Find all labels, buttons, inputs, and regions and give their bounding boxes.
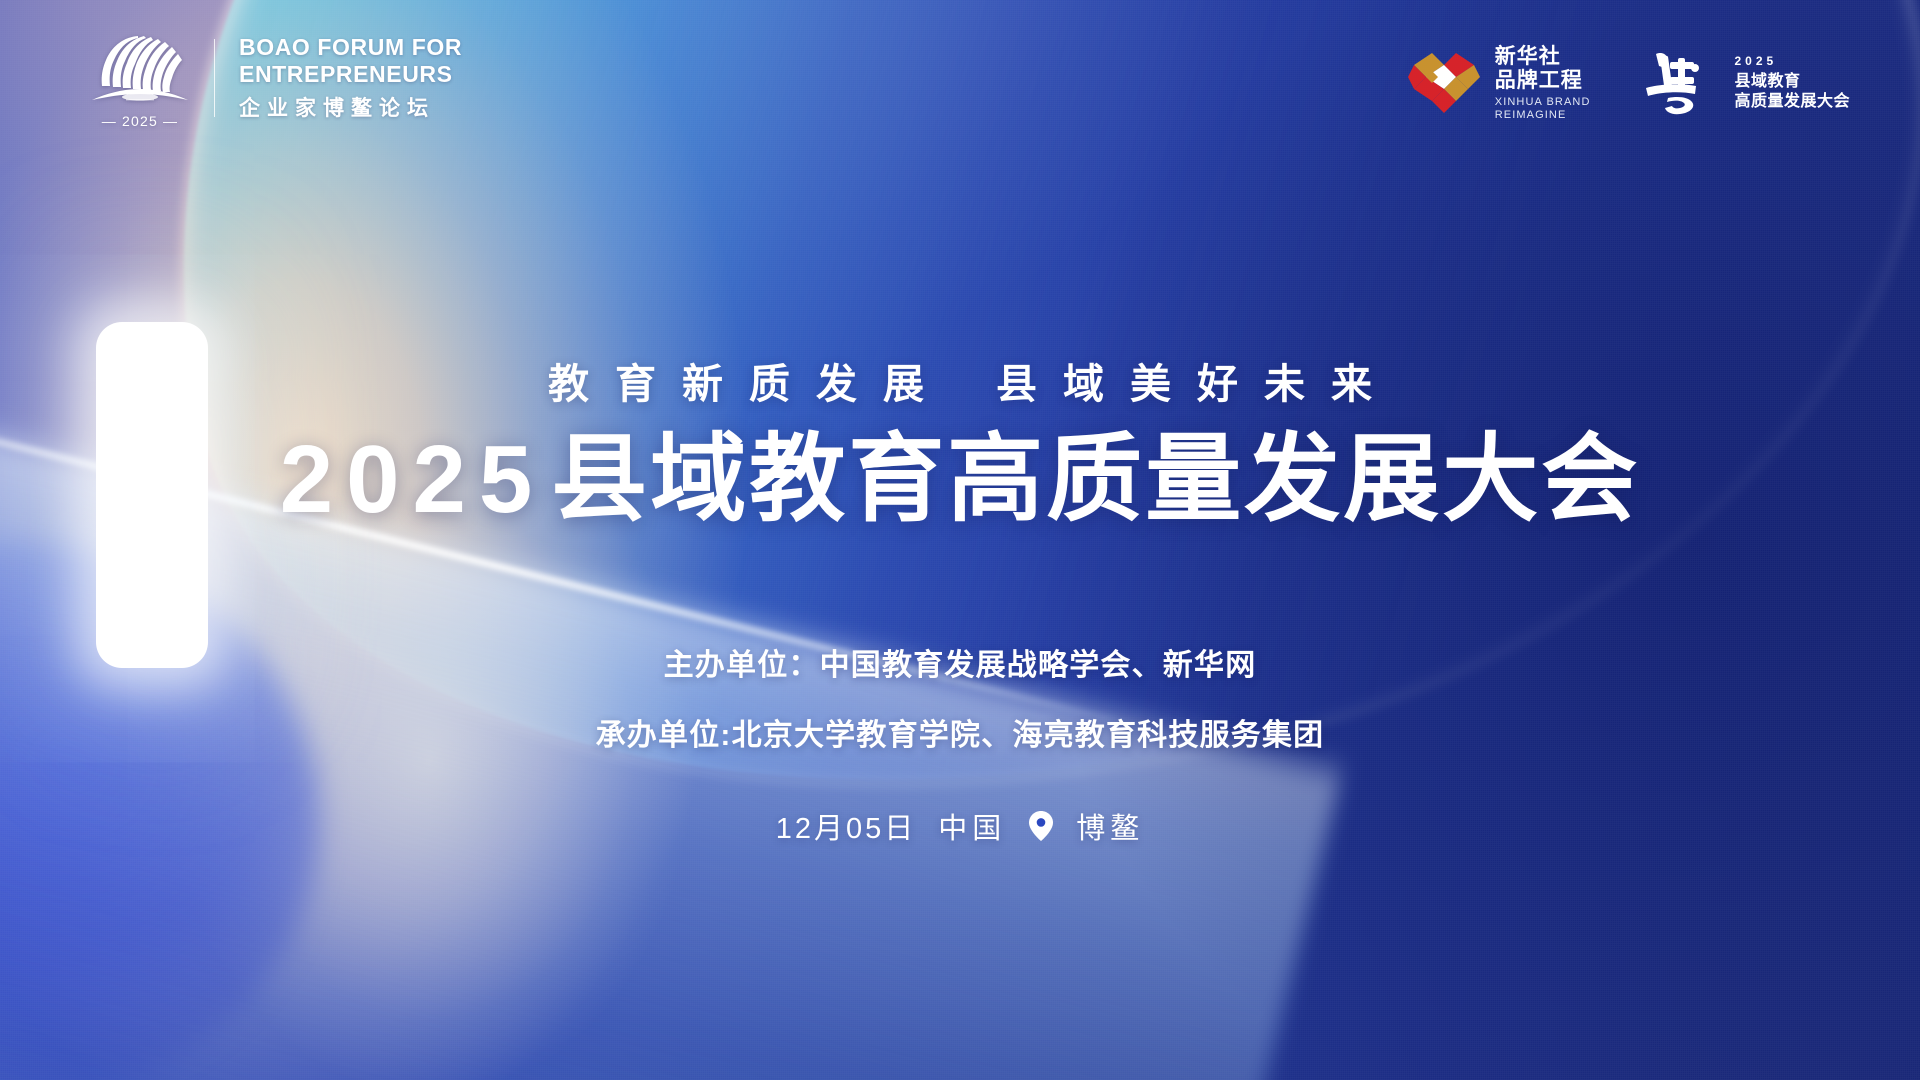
event-title: 2025县域教育高质量发展大会: [0, 428, 1920, 532]
partner-logos: 新华社 品牌工程 XINHUA BRAND REIMAGINE: [1406, 44, 1850, 122]
xinhua-logo-chinese-line2: 品牌工程: [1495, 69, 1591, 92]
hero-section: 教育新质发展县域美好未来 2025县域教育高质量发展大会: [0, 350, 1920, 532]
host-organization-line: 主办单位：中国教育发展战略学会、新华网: [0, 640, 1920, 684]
event-city: 博鳌: [1076, 805, 1144, 847]
boao-logo-english-line2: ENTREPRENEURS: [239, 61, 462, 88]
event-title-text: 县域教育高质量发展大会: [551, 426, 1640, 533]
conference-banner: — 2025 — BOAO FORUM FOR ENTREPRENEURS 企业…: [0, 0, 1920, 1080]
boao-logo-year: — 2025 —: [88, 113, 192, 129]
event-date: 12月05日: [776, 805, 917, 847]
county-education-logo: 2025 县域教育 高质量发展大会: [1634, 44, 1850, 122]
xinhua-logo-english-line2: REIMAGINE: [1495, 109, 1591, 121]
county-logo-chinese-line1: 县域教育: [1734, 72, 1850, 92]
organizer-organization-line: 承办单位:北京大学教育学院、海亮教育科技服务集团: [0, 710, 1920, 754]
boao-logo-english-line1: BOAO FORUM FOR: [239, 34, 462, 61]
county-calligraphy-icon: [1634, 44, 1720, 122]
event-meta: 12月05日 中国 博鳌: [0, 805, 1920, 847]
event-tagline: 教育新质发展县域美好未来: [0, 350, 1920, 410]
county-logo-text: 2025 县域教育 高质量发展大会: [1734, 54, 1850, 112]
boao-logo-text: BOAO FORUM FOR ENTREPRENEURS 企业家博鳌论坛: [239, 34, 462, 122]
county-logo-year: 2025: [1734, 54, 1850, 69]
xinhua-logo-chinese-line1: 新华社: [1495, 45, 1591, 68]
map-pin-icon: [1028, 810, 1054, 842]
tagline-left: 教育新质发展: [548, 361, 950, 407]
boao-forum-logo: — 2025 — BOAO FORUM FOR ENTREPRENEURS 企业…: [88, 30, 462, 126]
tagline-right: 县域美好未来: [996, 361, 1398, 407]
event-country: 中国: [938, 805, 1006, 847]
banner-header: — 2025 — BOAO FORUM FOR ENTREPRENEURS 企业…: [0, 0, 1920, 168]
boao-logo-chinese: 企业家博鳌论坛: [239, 92, 462, 122]
xinhua-brand-logo: 新华社 品牌工程 XINHUA BRAND REIMAGINE: [1406, 45, 1591, 121]
xinhua-logo-text: 新华社 品牌工程 XINHUA BRAND REIMAGINE: [1495, 45, 1591, 120]
county-logo-chinese-line2: 高质量发展大会: [1734, 92, 1850, 112]
event-title-year: 2025: [280, 426, 552, 533]
xinhua-logo-english-line1: XINHUA BRAND: [1495, 96, 1591, 108]
boao-shell-emblem-icon: — 2025 —: [88, 30, 192, 126]
xinhua-pinwheel-icon: [1406, 45, 1482, 121]
organizers-block: 主办单位：中国教育发展战略学会、新华网 承办单位:北京大学教育学院、海亮教育科技…: [0, 640, 1920, 754]
boao-logo-divider: [214, 39, 215, 117]
